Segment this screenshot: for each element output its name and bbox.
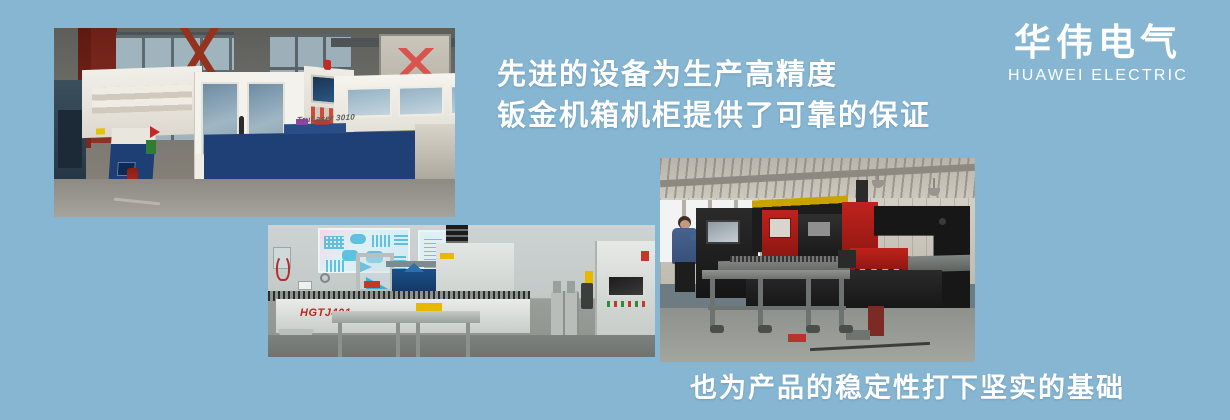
headline-line-2: 钣金机箱机柜提供了可靠的保证 bbox=[497, 96, 997, 137]
headline-line-1: 先进的设备为生产高精度 bbox=[497, 55, 997, 96]
red-marker bbox=[364, 281, 380, 288]
yellow-marker-upper bbox=[440, 253, 454, 259]
promotional-banner: TruLaser 3010 HGTJ401 bbox=[0, 0, 1230, 420]
red-hose bbox=[276, 255, 290, 281]
photo-cnc-turret-punch-press bbox=[660, 158, 975, 362]
red-machine-module-1 bbox=[762, 210, 798, 256]
wall-socket bbox=[298, 281, 312, 290]
factory-worker bbox=[672, 216, 698, 292]
gas-cylinders bbox=[551, 291, 579, 341]
green-control-box bbox=[146, 140, 156, 154]
headline-text: 先进的设备为生产高精度 钣金机箱机柜提供了可靠的保证 bbox=[497, 55, 997, 137]
handheld-pendant bbox=[581, 283, 593, 309]
bottom-caption-text: 也为产品的稳定性打下坚实的基础 bbox=[690, 372, 1125, 404]
hydraulic-jack bbox=[868, 306, 884, 336]
work-table bbox=[332, 311, 480, 357]
logo-english-name: HUAWEI ELECTRIC bbox=[1008, 66, 1188, 86]
photo-laser-cutting-machine: TruLaser 3010 bbox=[54, 28, 455, 217]
photo-cnc-cutting-machine: HGTJ401 bbox=[268, 225, 655, 357]
company-logo[interactable]: 华伟电气 HUAWEI ELECTRIC bbox=[1008, 22, 1188, 86]
logo-chinese-name: 华伟电气 bbox=[1008, 22, 1188, 64]
red-floor-object bbox=[788, 334, 806, 342]
red-tool-cart bbox=[850, 248, 908, 270]
warning-flag bbox=[150, 126, 160, 138]
machine-mast bbox=[856, 180, 868, 204]
machine-mid-block bbox=[796, 214, 844, 256]
transfer-table bbox=[702, 270, 850, 332]
wall-clock bbox=[320, 273, 330, 283]
